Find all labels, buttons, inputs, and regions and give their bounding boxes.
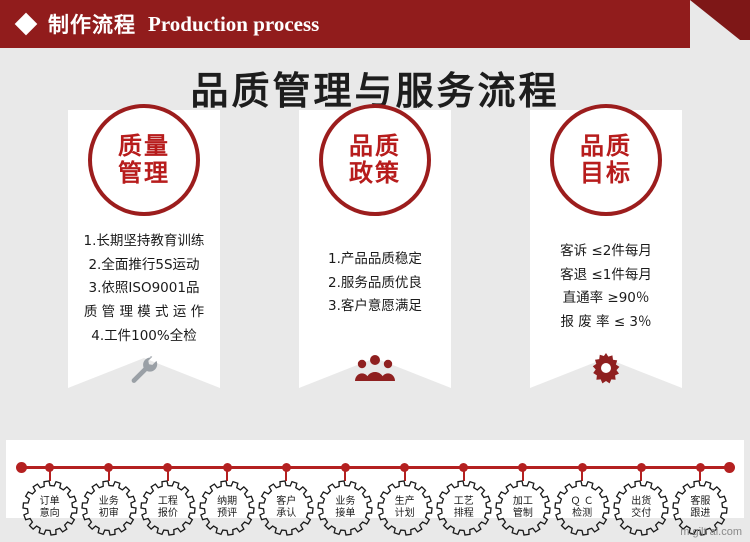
step-label-line1: 客户 [276,496,296,509]
pillar-circle-line1: 品质 [580,133,632,160]
cog-icon: 出货交付 [613,480,669,536]
timeline-start-cap [16,462,27,473]
step-label-line1: Ｑ Ｃ [570,496,593,509]
step-label-line1: 工程 [158,496,178,509]
list-item: 直通率 ≥90％ [522,287,690,311]
list-item: 4.工件100%全检 [68,325,220,349]
step-label-line2: 意向 [40,508,60,521]
list-item: 客退 ≤1件每月 [522,264,690,288]
process-step[interactable]: 订单意向 [22,480,78,536]
step-label-line1: 生产 [395,496,415,509]
cog-icon: 业务接单 [317,480,373,536]
page-header: 制作流程 Production process [0,0,750,48]
step-label-line2: 计划 [395,508,415,521]
pillar-quality-policy: 品质 政策 1.产品品质稳定 2.服务品质优良 3.客户意愿满足 [299,110,451,358]
list-item: 2.服务品质优良 [299,272,451,296]
step-label-line2: 交付 [631,508,651,521]
step-label-line2: 跟进 [690,508,710,521]
step-label-line2: 排程 [454,508,474,521]
timeline-dot [637,463,646,472]
step-label-line1: 加工 [513,496,533,509]
pillar-circle-line2: 目标 [580,160,632,187]
gear-icon [590,353,622,389]
header-bar: 制作流程 Production process [0,0,690,48]
timeline-dot [578,463,587,472]
process-step[interactable]: 客户承认 [258,480,314,536]
timeline-dot [696,463,705,472]
watermark: m.gilt al.com [680,526,742,538]
pillar-circle: 质量 管理 [88,104,200,216]
header-title-cn: 制作流程 [48,9,136,39]
timeline-dot [282,463,291,472]
list-item: 报 废 率 ≤ 3％ [522,311,690,335]
pillar-items: 1.长期坚持教育训练 2.全面推行5S运动 3.依照ISO9001品 质 管 理… [68,230,220,348]
cog-icon: 工程报价 [140,480,196,536]
cog-icon: 客户承认 [258,480,314,536]
pillar-circle: 品质 目标 [550,104,662,216]
process-step[interactable]: 业务接单 [317,480,373,536]
pillar-circle-line1: 品质 [349,133,401,160]
step-label-line1: 业务 [99,496,119,509]
pillars-panel: 质量 管理 1.长期坚持教育训练 2.全面推行5S运动 3.依照ISO9001品… [0,110,750,410]
timeline-line [20,466,730,469]
step-label-line1: 业务 [335,496,355,509]
list-item: 1.长期坚持教育训练 [68,230,220,254]
pillar-circle-line1: 质量 [118,133,170,160]
list-item: 3.依照ISO9001品 [68,277,220,301]
timeline-dot [223,463,232,472]
cog-icon: 纳期预评 [199,480,255,536]
cog-icon: 工艺排程 [436,480,492,536]
process-step[interactable]: 工艺排程 [436,480,492,536]
step-label-line1: 纳期 [217,496,237,509]
pillar-items: 1.产品品质稳定 2.服务品质优良 3.客户意愿满足 [299,248,451,319]
timeline-dot [400,463,409,472]
cog-icon: 订单意向 [22,480,78,536]
timeline-dot [104,463,113,472]
list-item: 2.全面推行5S运动 [68,254,220,278]
timeline-end-cap [724,462,735,473]
cog-icon: Ｑ Ｃ检测 [554,480,610,536]
list-item: 1.产品品质稳定 [299,248,451,272]
step-label-line2: 检测 [572,508,592,521]
process-step[interactable]: 出货交付 [613,480,669,536]
step-label-line2: 报价 [158,508,178,521]
step-label-line1: 工艺 [454,496,474,509]
step-label-line1: 出货 [631,496,651,509]
list-item: 客诉 ≤2件每月 [522,240,690,264]
pillar-circle-line2: 管理 [118,160,170,187]
step-label-line2: 初审 [99,508,119,521]
timeline-dot [341,463,350,472]
timeline-dot [163,463,172,472]
header-title-en: Production process [148,12,319,37]
cog-icon: 生产计划 [377,480,433,536]
process-step[interactable]: Ｑ Ｃ检测 [554,480,610,536]
pillar-items: 客诉 ≤2件每月 客退 ≤1件每月 直通率 ≥90％ 报 废 率 ≤ 3％ [522,240,690,335]
step-label-line2: 预评 [217,508,237,521]
step-label-line2: 接单 [335,508,355,521]
step-label-line2: 管制 [513,508,533,521]
process-step[interactable]: 业务初审 [81,480,137,536]
process-strip: 订单意向业务初审工程报价纳期预评客户承认业务接单生产计划工艺排程加工管制Ｑ Ｃ检… [6,440,744,518]
list-item: 质 管 理 模 式 运 作 [68,301,220,325]
process-step[interactable]: 生产计划 [377,480,433,536]
process-step[interactable]: 工程报价 [140,480,196,536]
timeline-dot [518,463,527,472]
timeline-dot [459,463,468,472]
timeline-dot [45,463,54,472]
cog-icon: 加工管制 [495,480,551,536]
wrench-icon [127,353,161,391]
step-label-line1: 客服 [690,496,710,509]
cog-icon: 业务初审 [81,480,137,536]
pillar-quality-management: 质量 管理 1.长期坚持教育训练 2.全面推行5S运动 3.依照ISO9001品… [68,110,220,358]
step-label-line2: 承认 [276,508,296,521]
process-step[interactable]: 加工管制 [495,480,551,536]
pillar-circle-line2: 政策 [349,160,401,187]
team-icon [355,353,395,387]
pillar-circle: 品质 政策 [319,104,431,216]
header-corner-fold [690,0,750,48]
diamond-icon [15,13,38,36]
process-step[interactable]: 纳期预评 [199,480,255,536]
pillar-quality-goal: 品质 目标 客诉 ≤2件每月 客退 ≤1件每月 直通率 ≥90％ 报 废 率 ≤… [530,110,682,358]
step-label-line1: 订单 [40,496,60,509]
list-item: 3.客户意愿满足 [299,295,451,319]
